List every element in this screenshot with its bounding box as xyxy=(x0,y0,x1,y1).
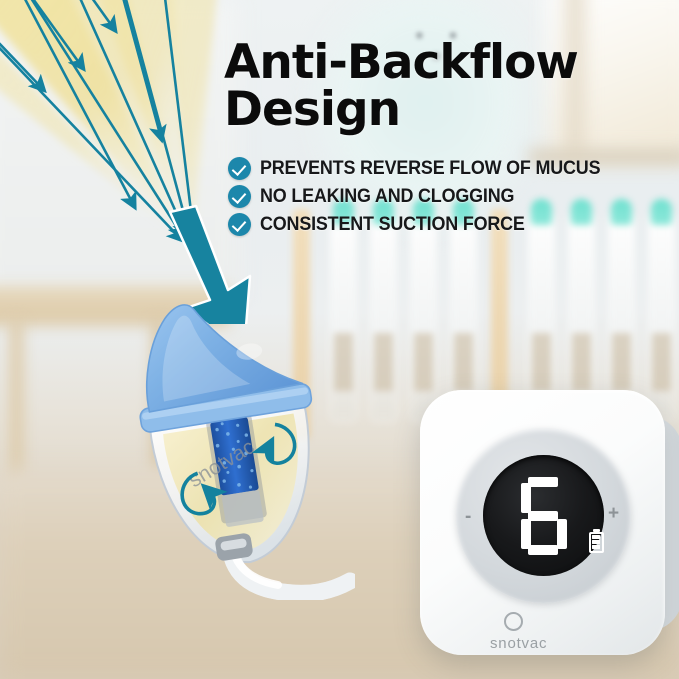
title-line-1: Anti-Backflow xyxy=(224,40,644,87)
device-brand-text: snotvac xyxy=(490,635,547,652)
check-circle-icon xyxy=(228,213,251,236)
device-body: - + xyxy=(420,390,665,655)
decrease-suction-button[interactable]: - xyxy=(465,507,471,526)
product-marketing-image: snotvac - + xyxy=(0,0,679,679)
list-item: PREVENTS REVERSE FLOW OF MUCUS xyxy=(228,157,658,180)
check-circle-icon xyxy=(228,157,251,180)
increase-suction-button[interactable]: + xyxy=(608,504,619,523)
battery-icon xyxy=(589,529,604,553)
page-title: Anti-Backflow Design xyxy=(224,40,644,133)
feature-label: PREVENTS REVERSE FLOW OF MUCUS xyxy=(260,157,600,180)
list-item: NO LEAKING AND CLOGGING xyxy=(228,185,658,208)
suction-level-digit xyxy=(521,477,567,555)
background-table-leg xyxy=(10,320,23,480)
list-item: CONSISTENT SUCTION FORCE xyxy=(228,213,658,236)
power-circle-icon[interactable] xyxy=(504,612,523,631)
feature-label: CONSISTENT SUCTION FORCE xyxy=(260,213,525,236)
led-display xyxy=(483,455,604,576)
feature-list: PREVENTS REVERSE FLOW OF MUCUS NO LEAKIN… xyxy=(228,157,658,241)
control-dial[interactable]: - + xyxy=(456,428,631,603)
check-circle-icon xyxy=(228,185,251,208)
aspirator-device: - + xyxy=(420,390,679,675)
feature-label: NO LEAKING AND CLOGGING xyxy=(260,185,514,208)
title-line-2: Design xyxy=(224,87,644,134)
nasal-aspirator-bottle: snotvac xyxy=(120,295,355,600)
